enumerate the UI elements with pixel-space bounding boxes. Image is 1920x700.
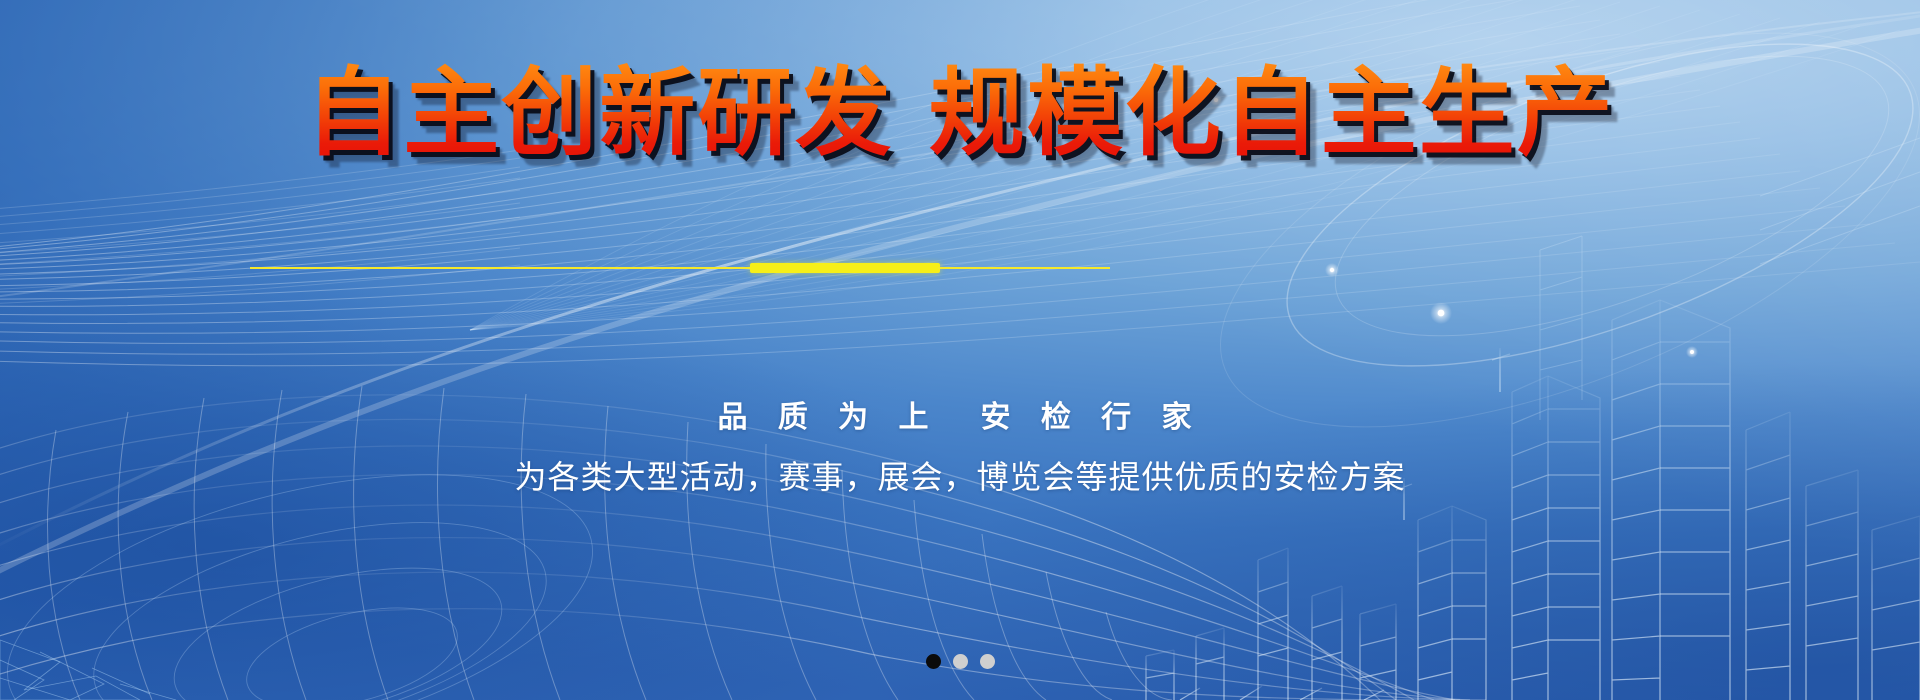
divider-line-left: [250, 267, 752, 269]
headline-container: 自主创新研发 规模化自主生产: [0, 62, 1920, 166]
subtitle-secondary: 为各类大型活动，赛事，展会，博览会等提供优质的安检方案: [0, 452, 1920, 498]
carousel-dot-3[interactable]: [980, 654, 995, 669]
carousel-dot-1[interactable]: [926, 654, 941, 669]
hero-banner: 自主创新研发 规模化自主生产 品 质 为 上 安 检 行 家 为各类大型活动，赛…: [0, 0, 1920, 700]
subtitle-primary: 品 质 为 上 安 检 行 家: [0, 392, 1920, 436]
banner-headline: 自主创新研发 规模化自主生产: [305, 62, 1614, 166]
divider-accent-bar: [750, 263, 940, 273]
yellow-divider: [0, 258, 1920, 276]
carousel-dot-2[interactable]: [953, 654, 968, 669]
divider-line-right: [938, 267, 1110, 269]
carousel-dots: [0, 654, 1920, 669]
